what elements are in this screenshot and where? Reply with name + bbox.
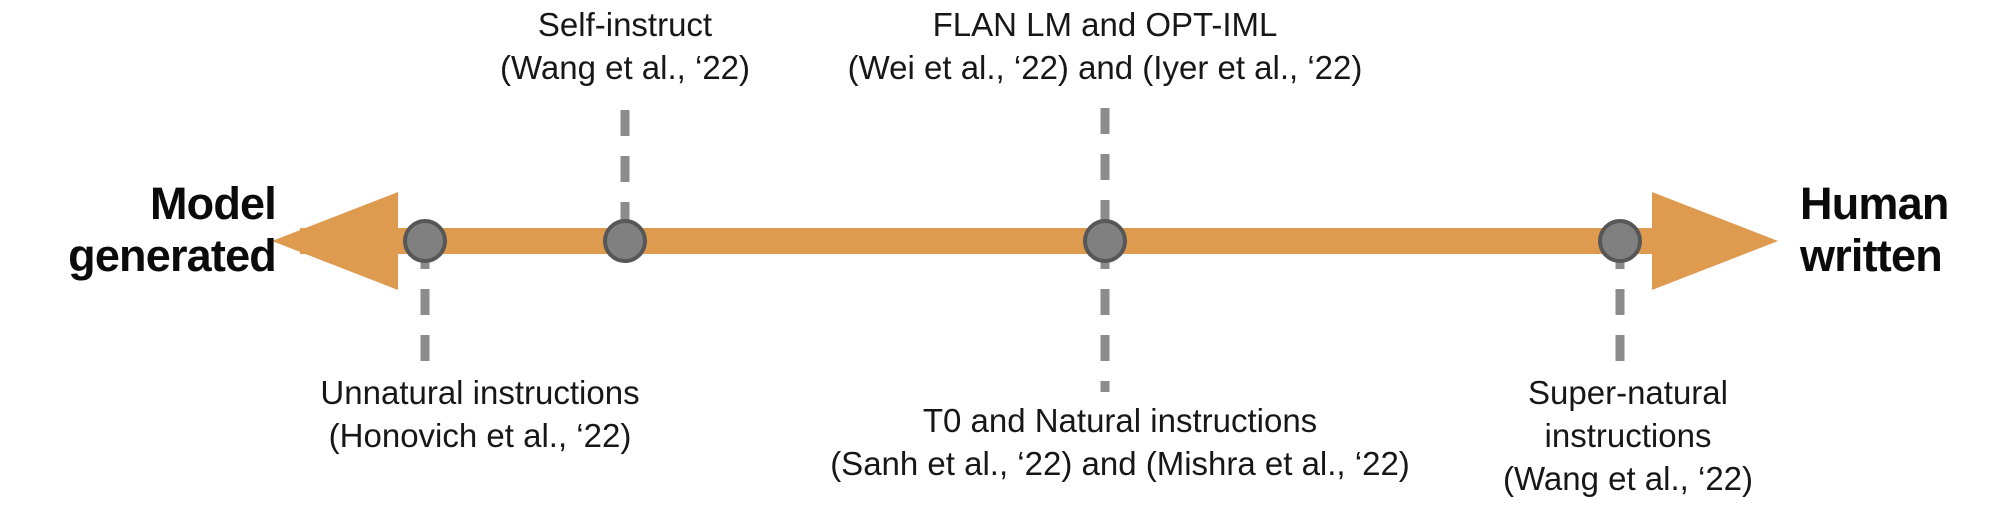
arrow-head-left	[272, 192, 398, 290]
axis-label-human-written-line1: Human	[1800, 178, 1949, 229]
axis-label-model-generated-line2: generated	[68, 230, 276, 281]
axis-label-human-written: Humanwritten	[1800, 178, 1994, 282]
axis-label-model-generated-line1: Model	[150, 178, 276, 229]
axis-label-human-written-line2: written	[1800, 230, 1942, 281]
arrow-shaft	[300, 228, 1700, 254]
annotation-flan-lm-and-opt-iml-citation: (Wei et al., ‘22) and (Iyer et al., ‘22)	[848, 47, 1363, 90]
connector-lines	[425, 108, 1620, 392]
annotation-flan-lm-and-opt-iml-title: FLAN LM and OPT-IML	[848, 4, 1363, 47]
arrow-head-right	[1652, 192, 1778, 290]
node-dot-unnatural-instructions	[405, 221, 445, 261]
annotation-self-instruct: Self-instruct (Wang et al., ‘22)	[500, 4, 750, 90]
annotation-flan-lm-and-opt-iml: FLAN LM and OPT-IML (Wei et al., ‘22) an…	[848, 4, 1363, 90]
annotation-super-natural-instructions: Super-natural instructions (Wang et al.,…	[1503, 372, 1753, 501]
spectrum-arrow	[272, 192, 1778, 290]
annotation-t0-and-natural-instructions: T0 and Natural instructions (Sanh et al.…	[830, 400, 1410, 486]
annotation-super-natural-instructions-title: Super-natural	[1503, 372, 1753, 415]
annotation-super-natural-instructions-citation: (Wang et al., ‘22)	[1503, 458, 1753, 501]
spectrum-diagram: Modelgenerated Humanwritten Self-instruc…	[0, 0, 1994, 524]
annotation-self-instruct-title: Self-instruct	[500, 4, 750, 47]
node-dot-super-natural-instructions	[1600, 221, 1640, 261]
axis-label-model-generated: Modelgenerated	[0, 178, 276, 282]
annotation-unnatural-instructions-citation: (Honovich et al., ‘22)	[320, 415, 639, 458]
annotation-t0-and-natural-instructions-citation: (Sanh et al., ‘22) and (Mishra et al., ‘…	[830, 443, 1410, 486]
spectrum-nodes	[405, 221, 1640, 261]
node-dot-flan-t0	[1085, 221, 1125, 261]
annotation-self-instruct-citation: (Wang et al., ‘22)	[500, 47, 750, 90]
node-dot-self-instruct	[605, 221, 645, 261]
annotation-unnatural-instructions: Unnatural instructions (Honovich et al.,…	[320, 372, 639, 458]
annotation-t0-and-natural-instructions-title: T0 and Natural instructions	[830, 400, 1410, 443]
annotation-unnatural-instructions-title: Unnatural instructions	[320, 372, 639, 415]
annotation-super-natural-instructions-subtitle: instructions	[1503, 415, 1753, 458]
